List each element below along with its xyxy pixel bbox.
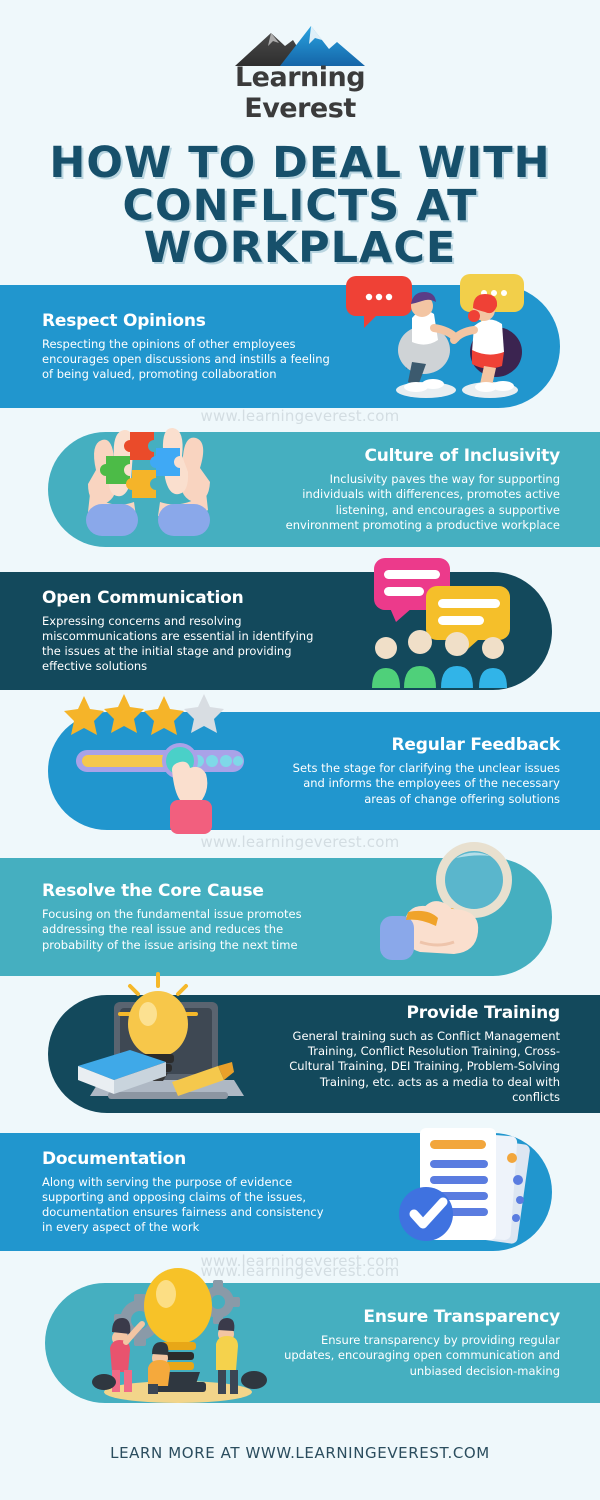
section-body: Inclusivity paves the way for supporting… bbox=[270, 472, 560, 533]
watermark: www.learningeverest.com bbox=[0, 833, 600, 851]
section-title: Provide Training bbox=[270, 1003, 560, 1023]
section-title: Respect Opinions bbox=[42, 311, 330, 331]
section-body: Ensure transparency by providing regular… bbox=[270, 1333, 560, 1379]
section-open-communication: Open Communication Expressing concerns a… bbox=[0, 572, 552, 690]
brand-logo: Learning Everest bbox=[180, 22, 420, 94]
brand-name: Learning Everest bbox=[180, 62, 420, 124]
section-resolve-core-cause: Resolve the Core Cause Focusing on the f… bbox=[0, 858, 552, 976]
watermark-text: www.learningeverest.com bbox=[201, 833, 400, 851]
section-body: Along with serving the purpose of eviden… bbox=[42, 1175, 330, 1236]
section-ensure-transparency: Ensure Transparency Ensure transparency … bbox=[45, 1283, 600, 1403]
section-body: Focusing on the fundamental issue promot… bbox=[42, 907, 330, 953]
section-respect-opinions: Respect Opinions Respecting the opinions… bbox=[0, 285, 560, 408]
section-title: Open Communication bbox=[42, 588, 330, 608]
section-body: Sets the stage for clarifying the unclea… bbox=[270, 761, 560, 807]
section-title: Resolve the Core Cause bbox=[42, 881, 330, 901]
footer-cta: LEARN MORE AT WWW.LEARNINGEVEREST.COM bbox=[0, 1444, 600, 1462]
section-culture-of-inclusivity: Culture of Inclusivity Inclusivity paves… bbox=[48, 432, 600, 547]
section-body: General training such as Conflict Manage… bbox=[270, 1029, 560, 1105]
watermark-text: www.learningeverest.com bbox=[201, 1262, 400, 1280]
section-regular-feedback: Regular Feedback Sets the stage for clar… bbox=[48, 712, 600, 830]
section-title: Ensure Transparency bbox=[270, 1307, 560, 1327]
watermark-text: www.learningeverest.com bbox=[201, 407, 400, 425]
page-title: HOW TO DEAL WITH CONFLICTS AT WORKPLACE bbox=[0, 142, 600, 270]
section-title: Culture of Inclusivity bbox=[270, 446, 560, 466]
section-title: Regular Feedback bbox=[270, 735, 560, 755]
section-body: Respecting the opinions of other employe… bbox=[42, 337, 330, 383]
section-title: Documentation bbox=[42, 1149, 330, 1169]
footer-text: LEARN MORE AT WWW.LEARNINGEVEREST.COM bbox=[110, 1444, 490, 1462]
section-documentation: Documentation Along with serving the pur… bbox=[0, 1133, 552, 1251]
page-header: Learning Everest HOW TO DEAL WITH CONFLI… bbox=[0, 0, 600, 270]
watermark: www.learningeverest.com bbox=[0, 1262, 600, 1280]
watermark: www.learningeverest.com bbox=[0, 407, 600, 425]
section-provide-training: Provide Training General training such a… bbox=[48, 995, 600, 1113]
section-body: Expressing concerns and resolving miscom… bbox=[42, 614, 330, 675]
